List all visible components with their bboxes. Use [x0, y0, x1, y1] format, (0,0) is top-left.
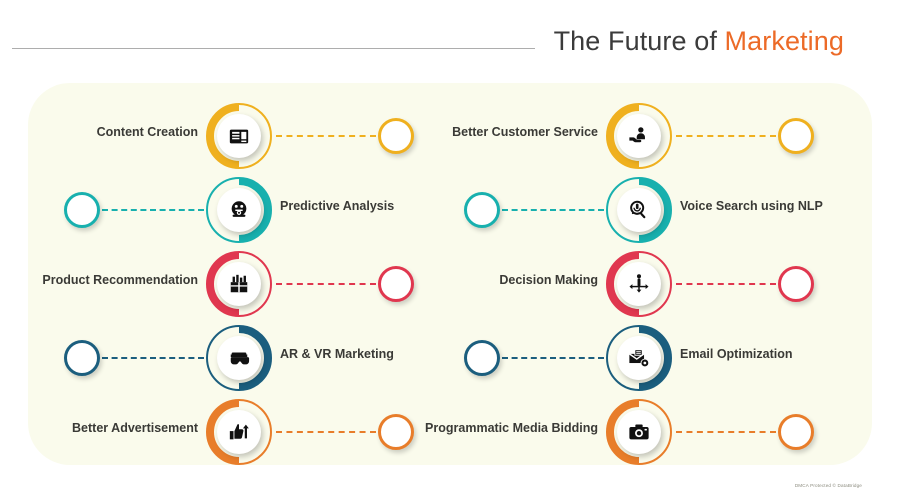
icon-disc	[217, 336, 261, 380]
feature-node[interactable]	[206, 399, 272, 465]
feature-node[interactable]	[606, 177, 672, 243]
voice-search-icon	[628, 199, 650, 221]
icon-disc	[217, 114, 261, 158]
feature-row[interactable]: Better Customer Service	[428, 101, 850, 171]
header-divider-rule	[12, 48, 535, 49]
column-left: Content CreationPredictive AnalysisProdu…	[28, 83, 450, 465]
connector-line	[102, 209, 204, 211]
feature-row[interactable]: Programmatic Media Bidding	[428, 397, 850, 467]
endpoint-bubble[interactable]	[464, 340, 500, 376]
thumbs-up-growth-icon	[228, 421, 250, 443]
connector-line	[276, 283, 376, 285]
connector-line	[676, 135, 776, 137]
feature-node[interactable]	[606, 103, 672, 169]
feature-label: Predictive Analysis	[280, 199, 394, 213]
feature-row[interactable]: Email Optimization	[428, 323, 850, 393]
icon-disc	[217, 262, 261, 306]
icon-disc	[617, 410, 661, 454]
decision-arrows-icon	[628, 273, 650, 295]
feature-label: Product Recommendation	[42, 273, 198, 287]
icon-disc	[217, 188, 261, 232]
feature-label: Email Optimization	[680, 347, 793, 361]
endpoint-bubble[interactable]	[778, 266, 814, 302]
feature-row[interactable]: AR & VR Marketing	[28, 323, 450, 393]
feature-node[interactable]	[206, 177, 272, 243]
feature-row[interactable]: Product Recommendation	[28, 249, 450, 319]
feature-label: Programmatic Media Bidding	[425, 421, 598, 435]
icon-disc	[617, 114, 661, 158]
email-gear-icon	[628, 347, 650, 369]
connector-line	[502, 357, 604, 359]
feature-label: Decision Making	[499, 273, 598, 287]
footer-watermark: DMCA Protected © DataBridge	[795, 483, 862, 488]
icon-disc	[617, 262, 661, 306]
feature-label: Better Advertisement	[72, 421, 198, 435]
feature-node[interactable]	[206, 103, 272, 169]
feature-label: AR & VR Marketing	[280, 347, 394, 361]
feature-label: Content Creation	[97, 125, 198, 139]
endpoint-bubble[interactable]	[778, 118, 814, 154]
page-title: The Future of Marketing	[554, 26, 844, 57]
endpoint-bubble[interactable]	[778, 414, 814, 450]
feature-row[interactable]: Content Creation	[28, 101, 450, 171]
customer-service-hand-icon	[628, 125, 650, 147]
ai-crystal-ball-icon	[228, 199, 250, 221]
feature-node[interactable]	[206, 325, 272, 391]
feature-node[interactable]	[606, 251, 672, 317]
product-box-icon	[228, 273, 250, 295]
page-title-accent: Marketing	[725, 26, 844, 56]
infographic-root: The Future of Marketing Content Creation…	[0, 0, 900, 498]
column-right: Better Customer ServiceVoice Search usin…	[428, 83, 850, 465]
icon-disc	[617, 188, 661, 232]
feature-label: Better Customer Service	[452, 125, 598, 139]
feature-row[interactable]: Predictive Analysis	[28, 175, 450, 245]
camera-icon	[628, 421, 650, 443]
endpoint-bubble[interactable]	[64, 192, 100, 228]
endpoint-bubble[interactable]	[378, 414, 414, 450]
endpoint-bubble[interactable]	[378, 266, 414, 302]
connector-line	[276, 135, 376, 137]
document-content-icon	[228, 125, 250, 147]
feature-node[interactable]	[206, 251, 272, 317]
feature-row[interactable]: Decision Making	[428, 249, 850, 319]
connector-line	[276, 431, 376, 433]
connector-line	[676, 431, 776, 433]
connector-line	[502, 209, 604, 211]
endpoint-bubble[interactable]	[64, 340, 100, 376]
content-panel: Content CreationPredictive AnalysisProdu…	[28, 83, 872, 465]
feature-label: Voice Search using NLP	[680, 199, 823, 213]
feature-row[interactable]: Better Advertisement	[28, 397, 450, 467]
page-title-main: The Future of	[554, 26, 725, 56]
icon-disc	[617, 336, 661, 380]
feature-node[interactable]	[606, 399, 672, 465]
vr-headset-icon	[228, 347, 250, 369]
icon-disc	[217, 410, 261, 454]
connector-line	[102, 357, 204, 359]
endpoint-bubble[interactable]	[464, 192, 500, 228]
connector-line	[676, 283, 776, 285]
feature-node[interactable]	[606, 325, 672, 391]
feature-row[interactable]: Voice Search using NLP	[428, 175, 850, 245]
endpoint-bubble[interactable]	[378, 118, 414, 154]
